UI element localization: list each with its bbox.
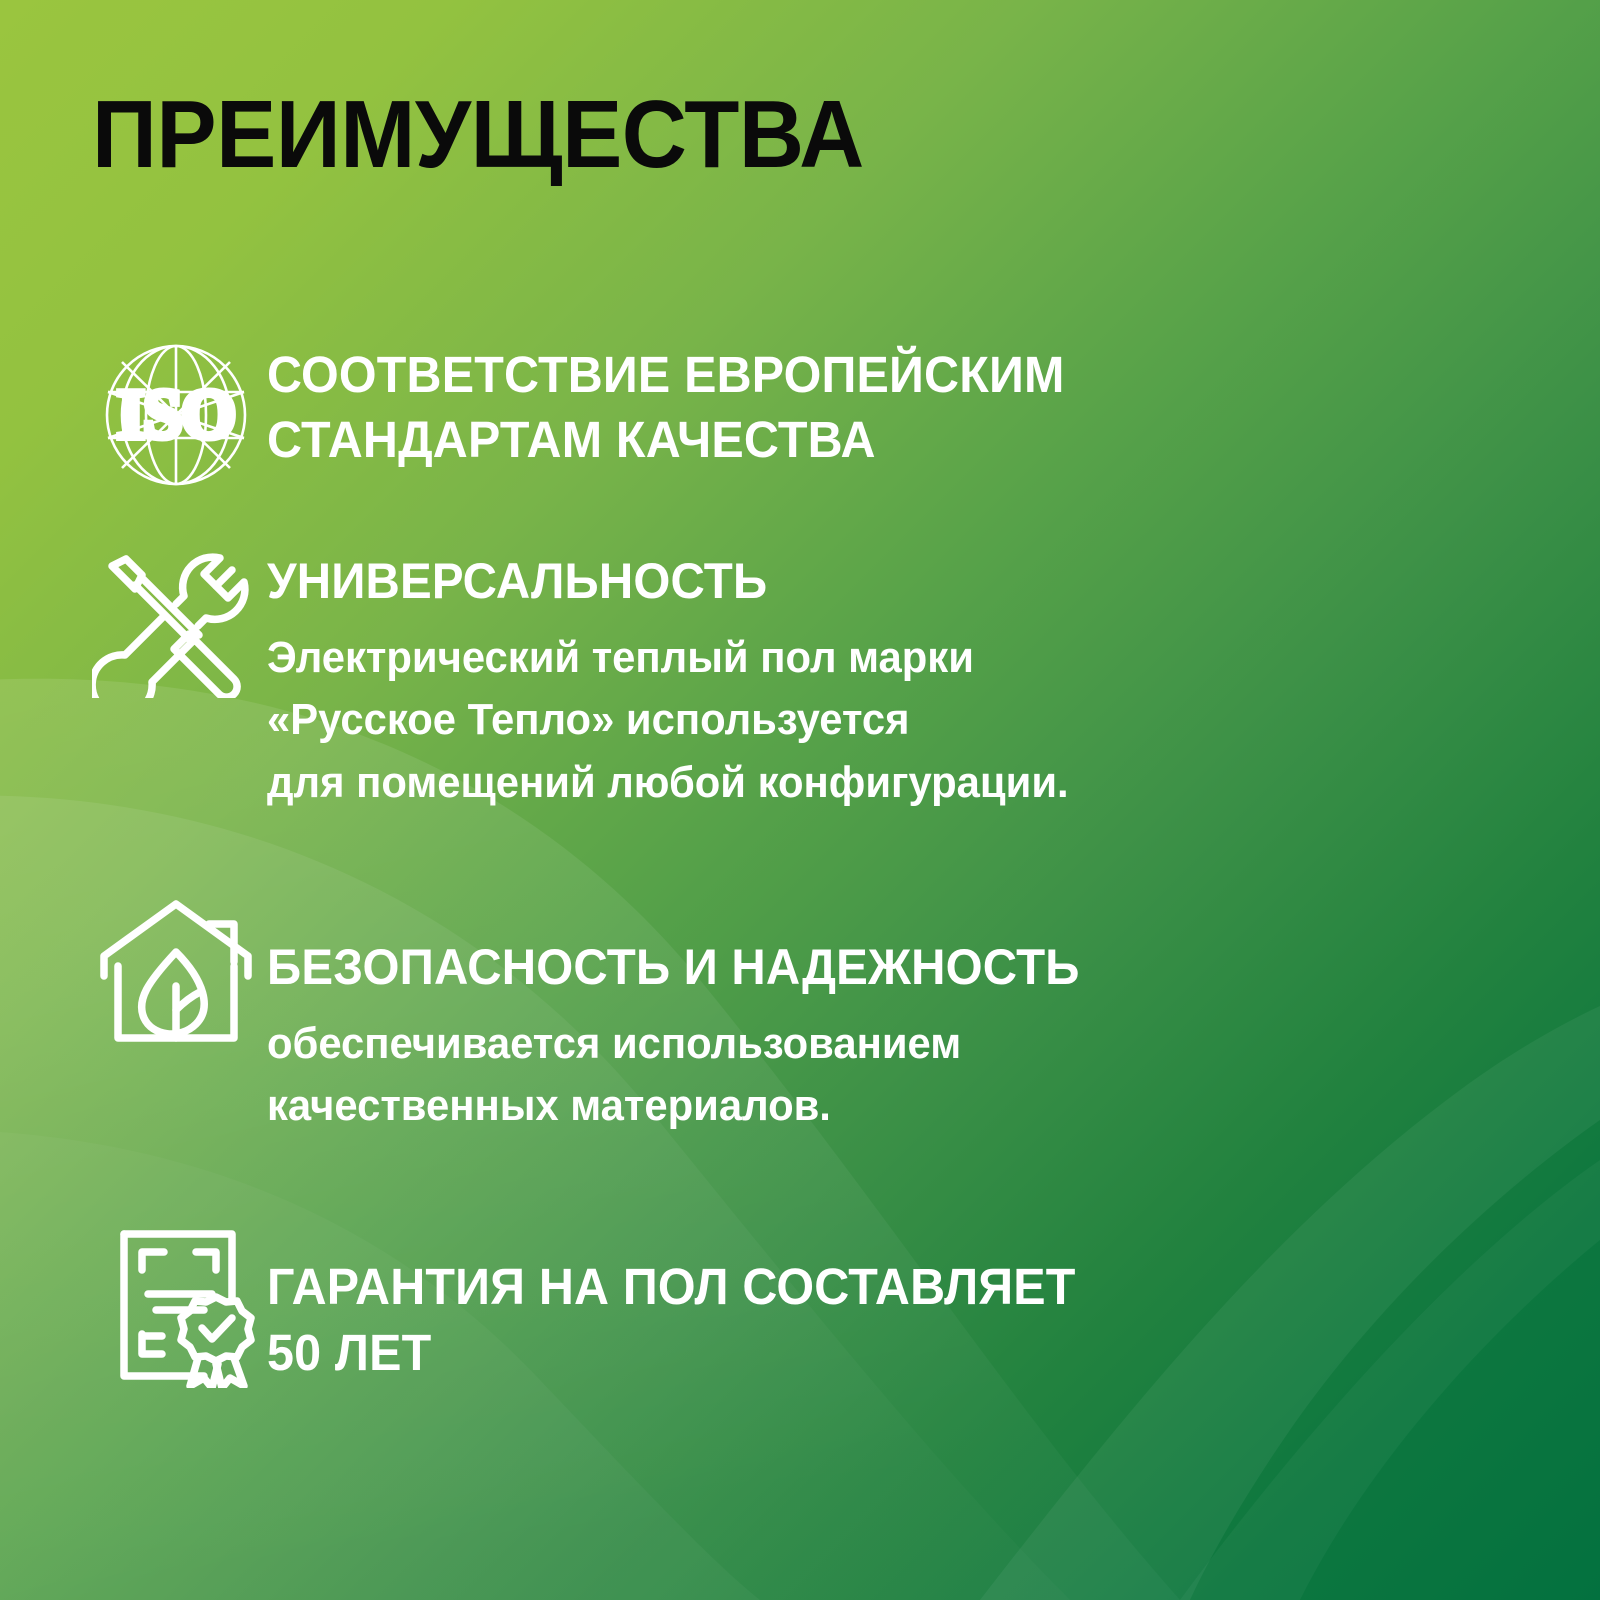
wrench-screwdriver-tools-icon bbox=[92, 548, 267, 698]
iso-certification-globe-icon: ISO bbox=[92, 340, 267, 490]
feature-heading: БЕЗОПАСНОСТЬ И НАДЕЖНОСТЬ bbox=[267, 936, 1450, 999]
feature-heading: СООТВЕТСТВИЕ ЕВРОПЕЙСКИМ СТАНДАРТАМ КАЧЕ… bbox=[267, 342, 1450, 473]
feature-heading: ГАРАНТИЯ НА ПОЛ СОСТАВЛЯЕТ 50 ЛЕТ bbox=[267, 1254, 1450, 1387]
feature-heading: УНИВЕРСАЛЬНОСТЬ bbox=[267, 550, 1450, 613]
feature-item-universality: УНИВЕРСАЛЬНОСТЬ Электрический теплый пол… bbox=[92, 548, 1512, 814]
feature-item-warranty: ГАРАНТИЯ НА ПОЛ СОСТАВЛЯЕТ 50 ЛЕТ bbox=[92, 1228, 1512, 1388]
feature-item-iso-standards: ISO СООТВЕТСТВИЕ ЕВРОПЕЙСКИМ СТАНДАРТАМ … bbox=[92, 340, 1512, 490]
page-title: ПРЕИМУЩЕСТВА bbox=[92, 86, 864, 184]
iso-logo-letters: ISO bbox=[117, 377, 235, 454]
advantages-poster: ПРЕИМУЩЕСТВА ISO СООТВЕТСТВИЕ ЕВРОПЕЙСКИ… bbox=[0, 0, 1600, 1600]
feature-description: обеспечивается использованием качественн… bbox=[267, 1013, 1450, 1138]
feature-item-safety-reliability: БЕЗОПАСНОСТЬ И НАДЕЖНОСТЬ обеспечивается… bbox=[92, 890, 1512, 1138]
certificate-award-icon bbox=[92, 1228, 267, 1388]
feature-description: Электрический теплый пол марки «Русское … bbox=[267, 627, 1450, 814]
house-leaf-eco-icon bbox=[92, 890, 267, 1048]
